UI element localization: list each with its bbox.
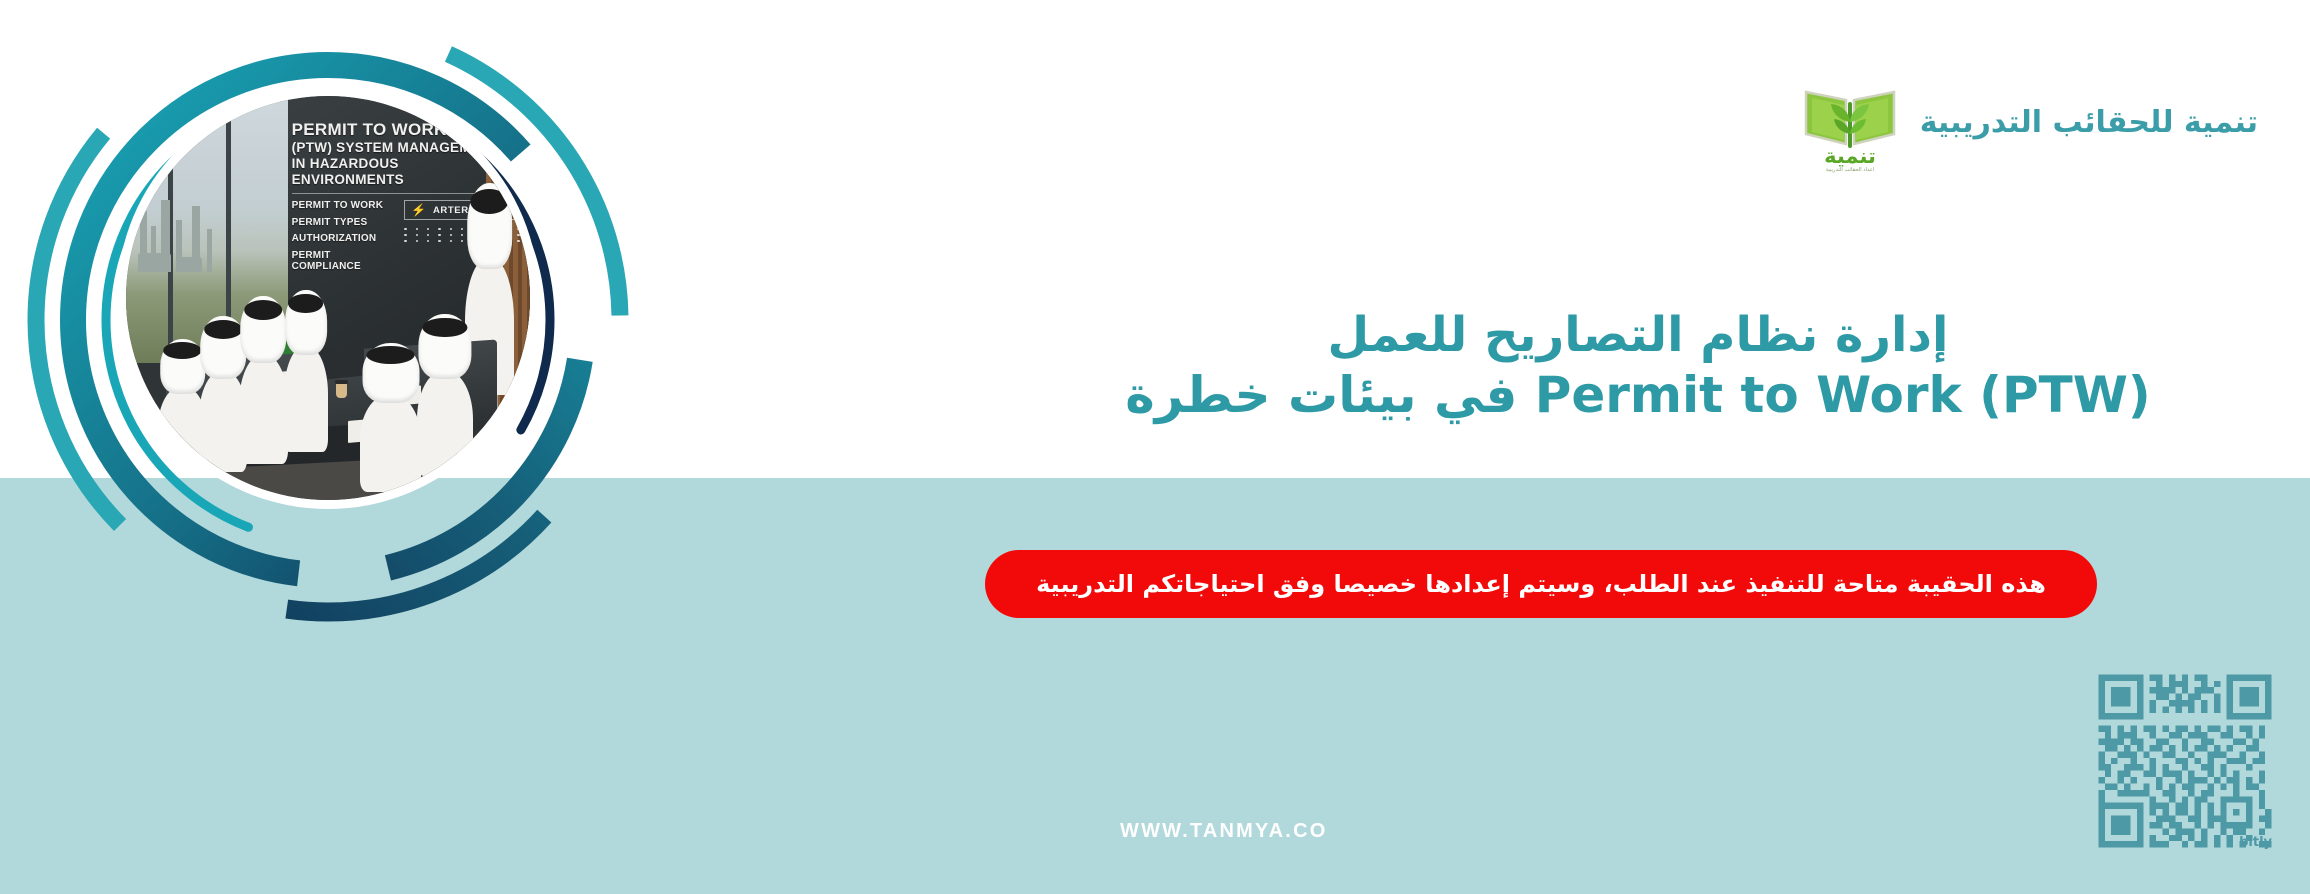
- page-title: إدارة نظام التصاريح للعمل Permit to Work…: [1018, 306, 2258, 426]
- board-topic-item: AUTHORIZATION: [292, 233, 395, 244]
- brand-lockup: تنمية للحقائب التدريبية تنمية اعداد: [1798, 70, 2258, 174]
- coffee-cup: [336, 383, 347, 398]
- board-title-line1: PERMIT TO WORK: [292, 120, 506, 140]
- availability-notice-banner: هذه الحقيبة متاحة للتنفيذ عند الطلب، وسي…: [985, 550, 2097, 618]
- attendee: [360, 395, 421, 492]
- board-topic-item: PERMIT TO WORK: [292, 200, 395, 211]
- hero-artwork: PERMIT TO WORK (PTW) SYSTEM MANAGEMENT I…: [40, 18, 600, 578]
- headline-line-1: إدارة نظام التصاريح للعمل: [1018, 306, 2258, 365]
- qr-code-matrix[interactable]: [2092, 668, 2278, 854]
- board-title-line2: (PTW) SYSTEM MANAGEMENT: [292, 140, 499, 155]
- open-book-plant-logo: تنمية اعداد الحقائب التدريبية: [1798, 70, 1902, 174]
- attendee: [239, 355, 287, 464]
- logo-wordmark: تنمية: [1824, 144, 1876, 168]
- attendee: [417, 371, 474, 476]
- meeting-room-scene: PERMIT TO WORK (PTW) SYSTEM MANAGEMENT I…: [126, 96, 530, 500]
- training-session-photo: PERMIT TO WORK (PTW) SYSTEM MANAGEMENT I…: [126, 96, 530, 500]
- board-title: PERMIT TO WORK (PTW) SYSTEM MANAGEMENT I…: [292, 120, 506, 188]
- logo-tagline: اعداد الحقائب التدريبية: [1825, 167, 1874, 173]
- refinery-silhouette: [132, 197, 261, 272]
- course-banner: PERMIT TO WORK (PTW) SYSTEM MANAGEMENT I…: [0, 0, 2310, 894]
- website-url[interactable]: WWW.TANMYA.CO: [1120, 820, 1327, 843]
- brand-name: تنمية للحقائب التدريبية: [1920, 105, 2258, 140]
- board-topic-item: PERMIT COMPLIANCE: [292, 250, 395, 272]
- board-topic-list: PERMIT TO WORK PERMIT TYPES AUTHORIZATIO…: [292, 200, 395, 277]
- lightning-bolt-icon: ⚡: [411, 204, 427, 216]
- tanmya-logo: تنمية اعداد الحقائب التدريبية: [1798, 70, 1902, 174]
- board-topic-item: PERMIT TYPES: [292, 217, 395, 228]
- board-title-line3: IN HAZARDOUS ENVIRONMENTS: [292, 156, 404, 187]
- availability-notice-text: هذه الحقيبة متاحة للتنفيذ عند الطلب، وسي…: [1036, 570, 2046, 598]
- headline-line-2: Permit to Work (PTW) في بيئات خطرة: [1018, 365, 2258, 426]
- qr-code[interactable]: bitly: [2092, 668, 2278, 854]
- qr-provider-label: bitly: [2239, 835, 2272, 850]
- attendee: [284, 346, 328, 451]
